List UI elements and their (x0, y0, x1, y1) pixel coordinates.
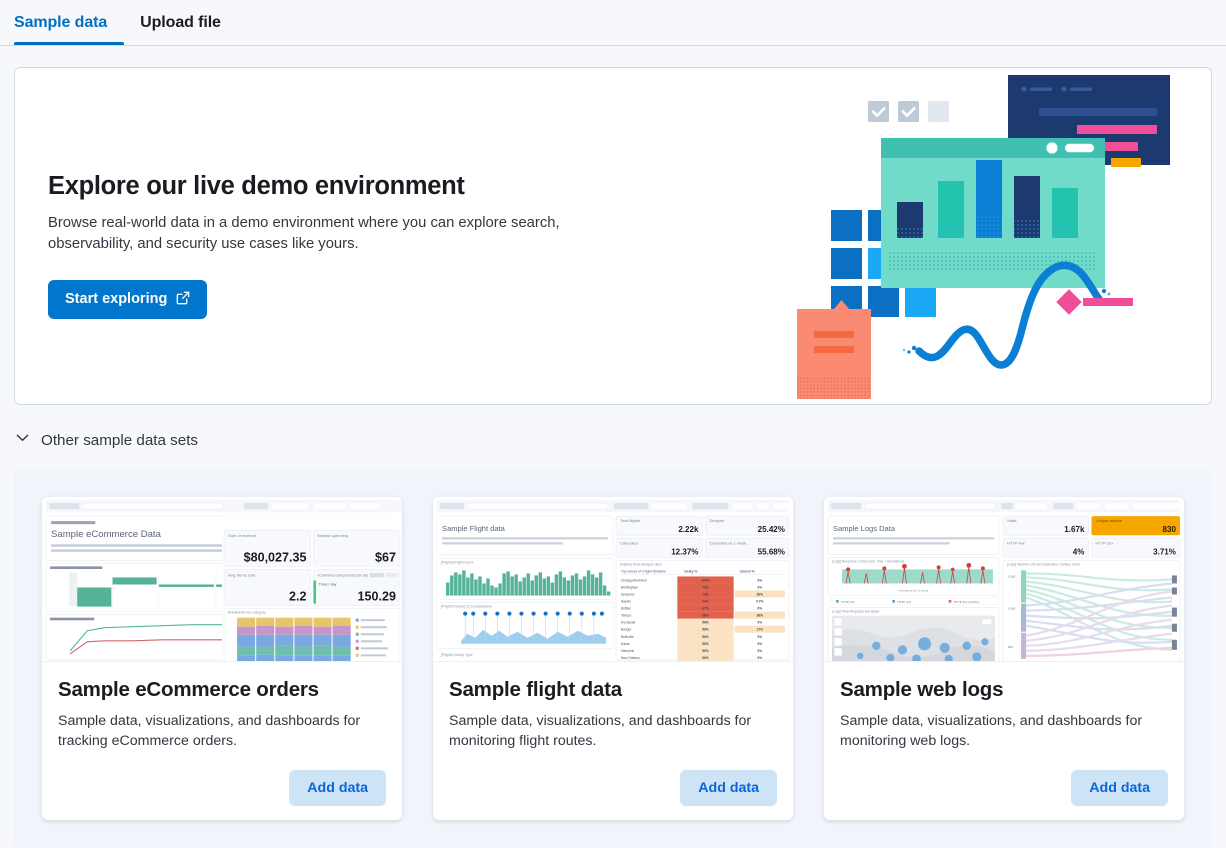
svg-text:830: 830 (1163, 525, 1177, 534)
svg-text:[Logs] Machine OS and Destinat: [Logs] Machine OS and Destination Sankey… (1007, 562, 1080, 566)
svg-text:Sample Flight data: Sample Flight data (442, 524, 506, 533)
svg-text:0%: 0% (757, 642, 762, 646)
illustration-checkboxes (868, 101, 949, 122)
card-description-weblogs: Sample data, visualizations, and dashboa… (840, 711, 1168, 752)
svg-text:17%: 17% (757, 628, 764, 632)
card-title-ecommerce: Sample eCommerce orders (58, 678, 386, 702)
svg-text:HTTP 5xx: HTTP 5xx (1095, 540, 1113, 545)
svg-text:100%: 100% (701, 578, 709, 582)
svg-text:3.71%: 3.71% (1153, 547, 1176, 556)
svg-text:Tampa: Tampa (621, 614, 631, 618)
other-sample-data-sets-accordion[interactable]: Other sample data sets (14, 429, 198, 451)
tab-sample-data-label: Sample data (14, 14, 107, 32)
svg-text:74%: 74% (702, 600, 709, 604)
svg-text:Top values of OriginCityName: Top values of OriginCityName (621, 569, 666, 573)
svg-text:58%: 58% (702, 621, 709, 625)
svg-text:[Flights] Flight count: [Flights] Flight count (441, 560, 473, 564)
demo-environment-panel: Explore our live demo environment Browse… (14, 67, 1212, 405)
accordion-label: Other sample data sets (41, 432, 198, 449)
svg-text:[Flights] Delays & Cancellatio: [Flights] Delays & Cancellations (441, 605, 492, 609)
sample-data-card-ecommerce[interactable]: Sample eCommerce Data (42, 497, 402, 820)
svg-text:67%: 67% (702, 607, 709, 611)
card-actions-ecommerce: Add data (58, 770, 386, 806)
card-title-flight: Sample flight data (449, 678, 777, 702)
card-thumbnail-weblogs: Sample Logs Data Visits 1.67k Unique vis… (824, 497, 1184, 662)
add-data-button-flight[interactable]: Add data (680, 770, 777, 806)
svg-text:0%: 0% (757, 578, 762, 582)
illustration-note-card (797, 300, 871, 399)
svg-text:Visits: Visits (1007, 518, 1017, 523)
svg-text:Memphis: Memphis (621, 649, 634, 653)
svg-text:2.22k: 2.22k (678, 525, 699, 534)
svg-text:[Flights] Most delayed cities: [Flights] Most delayed cities (620, 562, 662, 566)
svg-text:26%: 26% (757, 593, 764, 597)
svg-text:Unique visitors: Unique visitors (1095, 518, 1121, 523)
add-data-button-weblogs[interactable]: Add data (1071, 770, 1168, 806)
svg-text:Naples: Naples (621, 600, 631, 604)
card-body-flight: Sample flight data Sample data, visualiz… (433, 662, 793, 820)
svg-text:Rochester: Rochester (621, 621, 637, 625)
hero-text-block: Explore our live demo environment Browse… (48, 171, 593, 319)
svg-text:4%: 4% (1073, 547, 1085, 556)
svg-text:Total flights: Total flights (620, 518, 640, 523)
svg-text:56%: 56% (702, 656, 709, 660)
card-body-ecommerce: Sample eCommerce orders Sample data, vis… (42, 662, 402, 820)
svg-text:Syracuse: Syracuse (621, 593, 635, 597)
tab-upload-file-label: Upload file (140, 14, 221, 32)
tab-upload-file[interactable]: Upload file (124, 0, 237, 45)
svg-text:Chicago/Rockford: Chicago/Rockford (621, 578, 647, 582)
svg-text:36%: 36% (757, 614, 764, 618)
card-body-weblogs: Sample web logs Sample data, visualizati… (824, 662, 1184, 820)
card-title-weblogs: Sample web logs (840, 678, 1168, 702)
svg-text:HTTP 2xx: HTTP 2xx (841, 600, 855, 604)
svg-text:Bangor: Bangor (621, 628, 632, 632)
svg-text:Delayed: Delayed (710, 518, 725, 523)
external-link-icon (176, 291, 190, 309)
svg-text:56%: 56% (702, 635, 709, 639)
chevron-down-icon (14, 429, 31, 451)
svg-text:HTTP 3xx: HTTP 3xx (897, 600, 911, 604)
card-thumbnail-flight: Sample Flight data Total flights Delayed… (433, 497, 793, 662)
card-actions-weblogs: Add data (840, 770, 1168, 806)
sample-data-card-flight[interactable]: Sample Flight data Total flights Delayed… (433, 497, 793, 820)
start-exploring-button[interactable]: Start exploring (48, 280, 207, 320)
svg-text:Belleville: Belleville (621, 635, 634, 639)
svg-text:Sample Logs Data: Sample Logs Data (833, 524, 896, 533)
svg-text:Delay %: Delay % (684, 569, 697, 573)
svg-text:Cancel %: Cancel % (740, 569, 755, 573)
svg-text:73%: 73% (702, 586, 709, 590)
sample-data-card-weblogs[interactable]: Sample Logs Data Visits 1.67k Unique vis… (824, 497, 1184, 820)
svg-text:1.67k: 1.67k (1064, 525, 1085, 534)
card-thumbnail-ecommerce: Sample eCommerce Data (42, 497, 402, 662)
tab-bar: Sample data Upload file (0, 0, 1226, 46)
svg-text:Buffalo: Buffalo (621, 607, 631, 611)
start-exploring-label: Start exploring (65, 292, 167, 307)
svg-text:Birmingham: Birmingham (621, 586, 638, 590)
svg-text:HTTP 4xx: HTTP 4xx (1007, 540, 1025, 545)
svg-text:[Flights] Delay Type: [Flights] Delay Type (441, 653, 473, 657)
svg-text:[Logs] Response Codes Over Tim: [Logs] Response Codes Over Time + Annota… (832, 559, 905, 563)
svg-text:0%: 0% (757, 635, 762, 639)
svg-text:New Orleans: New Orleans (621, 656, 640, 660)
card-description-ecommerce: Sample data, visualizations, and dashboa… (58, 711, 386, 752)
svg-text:73%: 73% (702, 593, 709, 597)
svg-text:Sample eCommerce Data: Sample eCommerce Data (51, 529, 162, 540)
svg-text:56%: 56% (702, 642, 709, 646)
svg-text:12.37%: 12.37% (671, 547, 698, 556)
svg-text:[Logs] Total Requests and Byte: [Logs] Total Requests and Bytes (832, 610, 880, 614)
svg-text:55.68%: 55.68% (758, 547, 785, 556)
svg-text:timestamp per 3 hours: timestamp per 3 hours (898, 589, 928, 593)
sample-data-cards-panel: Sample eCommerce Data (14, 469, 1212, 848)
svg-text:66%: 66% (702, 614, 709, 618)
svg-text:Dakar: Dakar (621, 642, 630, 646)
add-data-button-ecommerce[interactable]: Add data (289, 770, 386, 806)
card-description-flight: Sample data, visualizations, and dashboa… (449, 711, 777, 752)
svg-text:HTTP 4xx and 5xx: HTTP 4xx and 5xx (954, 600, 980, 604)
svg-text:58%: 58% (702, 628, 709, 632)
svg-text:0%: 0% (757, 656, 762, 660)
svg-text:0%: 0% (757, 607, 762, 611)
svg-text:0%: 0% (757, 586, 762, 590)
demo-environment-illustration (793, 68, 1193, 405)
card-actions-flight: Add data (449, 770, 777, 806)
svg-text:500: 500 (1008, 645, 1013, 649)
tab-sample-data[interactable]: Sample data (14, 0, 124, 45)
svg-text:0.7%: 0.7% (756, 600, 763, 604)
svg-text:56%: 56% (702, 649, 709, 653)
svg-text:0%: 0% (757, 621, 762, 625)
svg-text:1,500: 1,500 (1008, 574, 1015, 578)
svg-text:0%: 0% (757, 649, 762, 653)
svg-text:Cancelled: Cancelled (620, 540, 638, 545)
svg-text:1,000: 1,000 (1008, 607, 1015, 611)
hero-subtitle: Browse real-world data in a demo environ… (48, 213, 568, 256)
svg-text:Cancelled vs 1 week...: Cancelled vs 1 week... (710, 540, 750, 545)
page-title: Explore our live demo environment (48, 171, 593, 202)
svg-text:25.42%: 25.42% (758, 525, 785, 534)
